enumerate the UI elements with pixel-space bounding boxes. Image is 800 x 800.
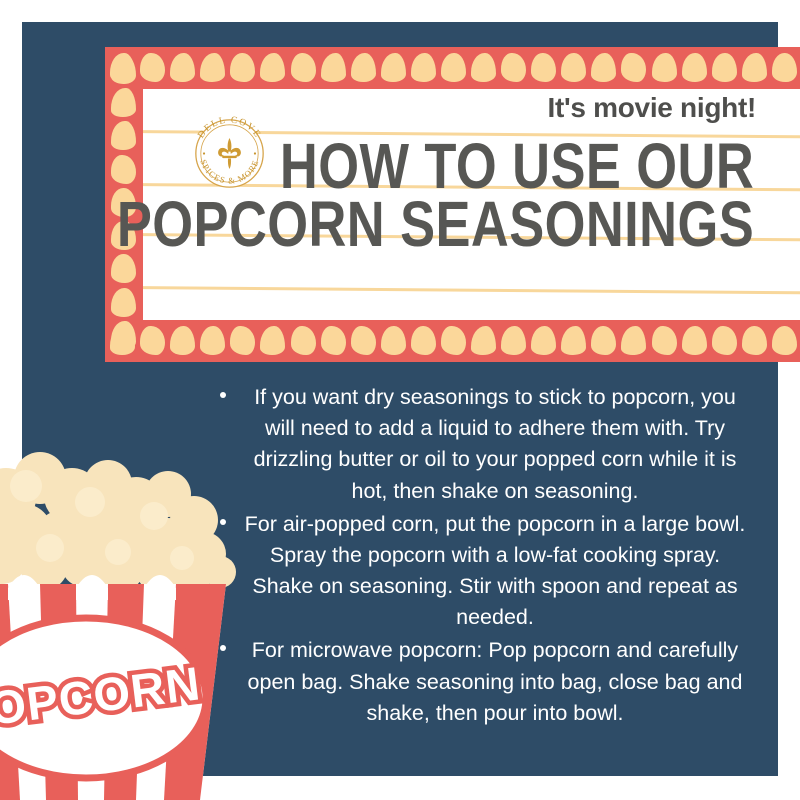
marquee-bulb (652, 53, 677, 82)
marquee-bulb (260, 53, 285, 82)
marquee-bulb (111, 288, 136, 317)
marquee-bulb (621, 326, 646, 355)
marquee-bulbs-bottom (105, 320, 800, 362)
marquee-bulb (351, 53, 376, 82)
marquee-bulb (682, 326, 707, 355)
marquee-bulb (742, 53, 767, 82)
marquee-bulb (111, 55, 136, 84)
marquee-bulb (652, 326, 677, 355)
marquee-bulb (682, 53, 707, 82)
marquee-bulb (111, 88, 136, 117)
marquee-bulb (140, 326, 165, 355)
marquee-bulb (742, 326, 767, 355)
marquee-bulb (321, 53, 346, 82)
marquee-bulb (441, 326, 466, 355)
marquee-bulb (531, 326, 556, 355)
tip-text: For air-popped corn, put the popcorn in … (242, 509, 748, 634)
marquee-bulb (170, 326, 195, 355)
marquee-bulb (712, 326, 737, 355)
list-item: If you want dry seasonings to stick to p… (214, 382, 754, 507)
marquee-bulb (471, 326, 496, 355)
tip-text: For microwave popcorn: Pop popcorn and c… (242, 635, 748, 729)
marquee-bulb (381, 326, 406, 355)
marquee-bulb (561, 326, 586, 355)
marquee-bulb (772, 326, 797, 355)
marquee-bulb (411, 326, 436, 355)
marquee-bulb (140, 53, 165, 82)
bullet-dot-icon (220, 392, 226, 398)
marquee-bulb (260, 326, 285, 355)
marquee-bulb (411, 53, 436, 82)
eyebrow-text: It's movie night! (548, 92, 756, 124)
list-item: For microwave popcorn: Pop popcorn and c… (214, 635, 754, 729)
marquee-bulb (230, 53, 255, 82)
marquee-bulb (531, 53, 556, 82)
marquee-bulb (471, 53, 496, 82)
marquee-bulb (381, 53, 406, 82)
marquee-bulb (200, 326, 225, 355)
marquee-bulb (170, 53, 195, 82)
tips-list: If you want dry seasonings to stick to p… (214, 382, 754, 731)
marquee-bulb (351, 326, 376, 355)
page-title: HOW TO USE OUR POPCORN SEASONINGS (0, 138, 754, 253)
marquee-bulb (291, 53, 316, 82)
marquee-bulb (321, 326, 346, 355)
headline-line-2: POPCORN SEASONINGS (117, 196, 754, 254)
tip-text: If you want dry seasonings to stick to p… (242, 382, 748, 507)
marquee-bulb (621, 53, 646, 82)
tips-ul: If you want dry seasonings to stick to p… (214, 382, 754, 729)
marquee-bulb (501, 326, 526, 355)
marquee-bulb (591, 326, 616, 355)
marquee-bulb (772, 53, 797, 82)
marquee-rule-line-4 (143, 286, 800, 295)
poster-canvas: DELL COVE SPICES & MORE It's movie night… (0, 0, 800, 800)
marquee-bulb (591, 53, 616, 82)
marquee-bulb (291, 326, 316, 355)
marquee-bulb (200, 53, 225, 82)
marquee-bulb (561, 53, 586, 82)
popcorn-bag-illustration: POPCORN (0, 436, 250, 800)
marquee-bulbs-top (105, 47, 800, 89)
marquee-bulb (230, 326, 255, 355)
marquee-bulb (441, 53, 466, 82)
marquee-bulb (712, 53, 737, 82)
marquee-bulb (111, 321, 136, 350)
list-item: For air-popped corn, put the popcorn in … (214, 509, 754, 634)
marquee-bulb (501, 53, 526, 82)
